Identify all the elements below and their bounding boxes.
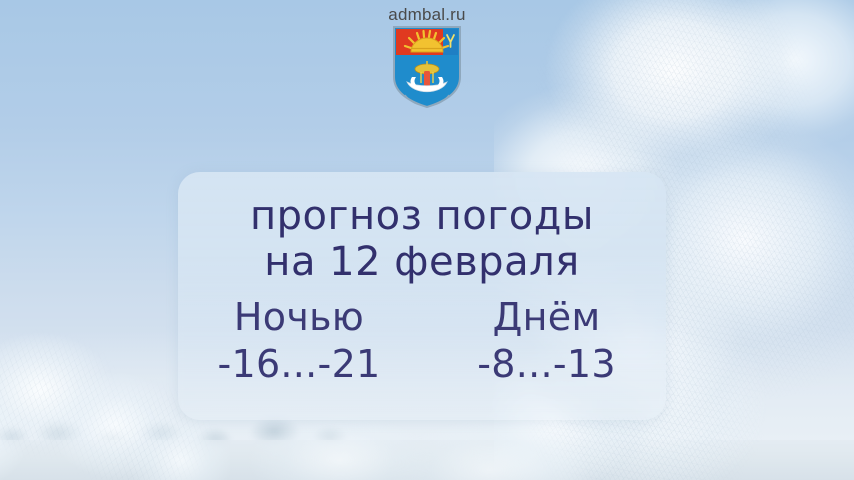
period-night: Ночью -16...-21 [217,297,380,385]
forecast-periods: Ночью -16...-21 Днём -8...-13 [206,297,638,385]
headline-line-2: на 12 февраля [250,240,594,286]
weather-forecast-graphic: admbal.ru [0,0,854,480]
period-night-label: Ночью [234,297,364,338]
balakovo-coat-of-arms-icon [391,25,463,109]
period-day: Днём -8...-13 [467,297,627,385]
period-night-temperature: -16...-21 [217,344,380,385]
period-day-temperature: -8...-13 [477,344,616,385]
forecast-card: прогноз погоды на 12 февраля Ночью -16..… [178,172,666,420]
forecast-headline: прогноз погоды на 12 февраля [250,194,594,285]
headline-line-1: прогноз погоды [250,193,594,239]
site-name: admbal.ru [388,6,465,23]
period-day-label: Днём [493,297,601,338]
brand-watermark: admbal.ru [0,6,854,109]
